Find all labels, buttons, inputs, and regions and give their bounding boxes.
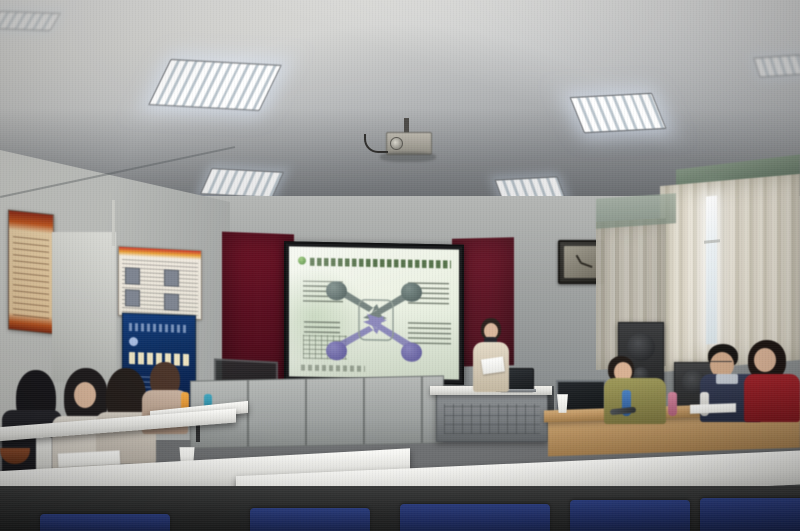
clock-minute-hand <box>581 262 593 268</box>
projector-shadow <box>380 152 436 162</box>
poster-news-board <box>118 246 202 320</box>
clock-face <box>564 246 598 278</box>
classroom-photo <box>0 0 800 531</box>
presenter <box>468 318 514 394</box>
blue-chair-1[interactable] <box>250 508 370 531</box>
wall-pipe <box>112 200 115 246</box>
papers-panel-desk <box>690 403 736 414</box>
blue-chair-2[interactable] <box>400 504 550 531</box>
blue-chair-4[interactable] <box>700 498 800 531</box>
poster-left-warm <box>8 210 54 335</box>
panelist-red-body <box>744 374 800 422</box>
ceiling-light-center <box>570 93 667 133</box>
ceiling-light-far-right <box>753 54 800 77</box>
presentation-slide <box>289 246 459 379</box>
ceiling-light-mid-left <box>200 168 284 198</box>
banner-logo-icon <box>129 337 138 346</box>
banner-header-text <box>129 323 190 334</box>
bottle-pink[interactable] <box>668 392 677 416</box>
panelist-red <box>744 340 800 422</box>
screen-glare <box>289 246 459 379</box>
ceiling-light-front-left <box>148 59 282 111</box>
lectern <box>436 392 548 442</box>
presenter-papers <box>481 357 505 375</box>
glasses-icon <box>710 361 732 366</box>
panelist-man-collar <box>716 374 738 384</box>
blue-chair-3[interactable] <box>570 500 690 531</box>
window-daylight-gap <box>706 196 717 345</box>
ceiling-light-rear-left <box>0 11 61 31</box>
projection-screen <box>284 241 464 384</box>
projector-lens <box>390 137 403 150</box>
panelist-olive-body <box>604 378 666 424</box>
right-wall-upper <box>596 193 676 229</box>
ceiling-projector <box>378 128 440 164</box>
panelist-red-head <box>754 348 776 372</box>
blue-chair-left[interactable] <box>40 514 170 531</box>
student-second-left-head <box>74 382 96 408</box>
wall-panel-left <box>52 232 116 382</box>
